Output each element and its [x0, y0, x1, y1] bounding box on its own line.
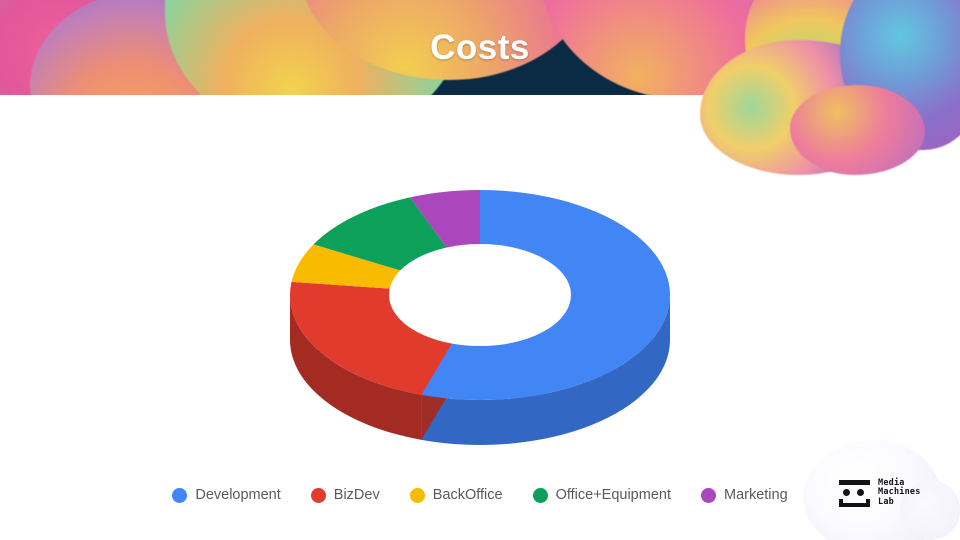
legend-item[interactable]: BackOffice: [410, 487, 503, 503]
legend-item-label: BizDev: [334, 487, 380, 503]
donut-chart-svg: [250, 140, 720, 460]
media-machines-lab-logo: Media Machines Lab: [838, 478, 921, 508]
costs-donut-chart: [250, 140, 720, 460]
legend-color-swatch: [410, 488, 425, 503]
legend-item-label: BackOffice: [433, 487, 503, 503]
legend-item-label: Marketing: [724, 487, 788, 503]
page-title: Costs: [0, 0, 960, 95]
legend-color-swatch: [311, 488, 326, 503]
logo-line-3: Lab: [878, 498, 921, 508]
legend-color-swatch: [172, 488, 187, 503]
legend-color-swatch: [701, 488, 716, 503]
legend-item[interactable]: Office+Equipment: [533, 487, 671, 503]
decorative-blob-right-4: [790, 85, 925, 175]
legend-item[interactable]: BizDev: [311, 487, 380, 503]
legend-item[interactable]: Marketing: [701, 487, 788, 503]
robot-face-icon: [838, 478, 871, 508]
legend-item-label: Development: [195, 487, 280, 503]
legend-item-label: Office+Equipment: [556, 487, 671, 503]
slide: Costs DevelopmentBizDevBackOfficeOffice+…: [0, 0, 960, 540]
logo-text: Media Machines Lab: [878, 479, 921, 508]
legend-item[interactable]: Development: [172, 487, 280, 503]
legend-color-swatch: [533, 488, 548, 503]
